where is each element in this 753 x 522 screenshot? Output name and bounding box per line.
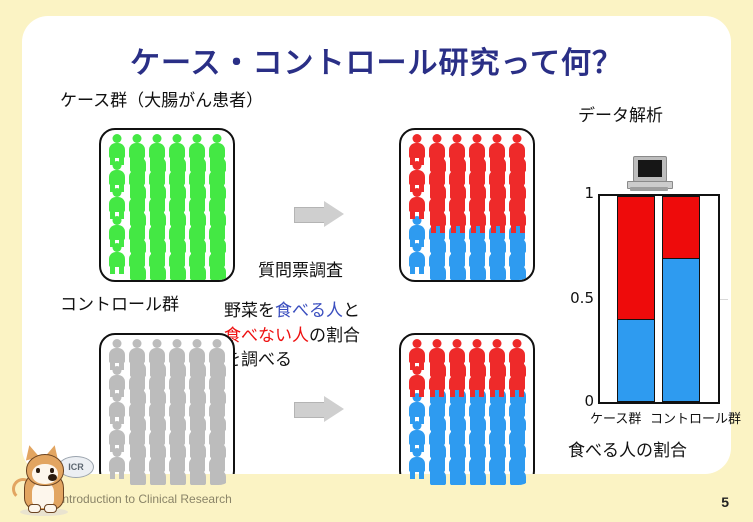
person-icon bbox=[487, 134, 507, 164]
person-icon bbox=[147, 134, 167, 164]
person-icon bbox=[187, 339, 207, 369]
people-box-case-after bbox=[399, 128, 535, 282]
bar-control-group bbox=[662, 196, 700, 402]
chart-y-axis: 1 0.5 0 bbox=[560, 194, 594, 404]
question-noteat-people: 食べない人 bbox=[224, 326, 309, 346]
person-icon bbox=[187, 134, 207, 164]
people-box-case-before bbox=[99, 128, 235, 282]
label-case-group: ケース群（大腸がん患者） bbox=[60, 86, 263, 111]
page-title: ケース・コントロール研究って何？ bbox=[22, 38, 731, 82]
person-icon bbox=[427, 339, 447, 369]
person-icon bbox=[507, 134, 527, 164]
people-row bbox=[101, 134, 233, 160]
person-icon bbox=[107, 134, 127, 164]
label-data-analysis: データ解析 bbox=[578, 101, 663, 126]
label-control-group: コントロール群 bbox=[60, 290, 179, 315]
person-icon bbox=[127, 339, 147, 369]
person-icon bbox=[407, 134, 427, 164]
y-tick-0-5: 0.5 bbox=[570, 289, 594, 307]
person-icon bbox=[487, 339, 507, 369]
bar-segment-eat bbox=[663, 258, 699, 401]
people-box-control-before bbox=[99, 333, 235, 487]
person-icon bbox=[147, 339, 167, 369]
person-icon bbox=[407, 339, 427, 369]
label-survey: 質問票調査 bbox=[258, 256, 343, 281]
right-arrow-icon-bottom bbox=[294, 396, 344, 422]
people-row bbox=[401, 134, 533, 160]
computer-icon bbox=[627, 156, 671, 192]
person-icon bbox=[507, 339, 527, 369]
person-icon bbox=[107, 339, 127, 369]
bar-segment-noteat bbox=[663, 197, 699, 258]
label-chart-caption: 食べる人の割合 bbox=[568, 436, 687, 461]
shiba-dog-mascot-icon: ICR bbox=[8, 438, 94, 518]
person-icon bbox=[467, 339, 487, 369]
person-icon bbox=[207, 134, 227, 164]
x-tick-case-group: ケース群 bbox=[590, 408, 641, 427]
bar-case-group bbox=[617, 196, 655, 402]
bar-segment-noteat bbox=[618, 197, 654, 319]
person-icon bbox=[467, 134, 487, 164]
page-number: 5 bbox=[721, 494, 729, 510]
question-text-block: 野菜を食べる人と 食べない人の割合 を調べる bbox=[224, 299, 384, 373]
right-arrow-icon-top bbox=[294, 201, 344, 227]
chart-plot-area bbox=[598, 194, 720, 404]
question-line2-suffix: の割合 bbox=[309, 326, 360, 346]
people-box-control-after bbox=[399, 333, 535, 487]
x-tick-control-group: コントロール群 bbox=[650, 408, 741, 427]
person-icon bbox=[207, 339, 227, 369]
people-row bbox=[401, 339, 533, 365]
question-line1-suffix: と bbox=[343, 301, 360, 321]
question-eat-people: 食べる人 bbox=[275, 301, 343, 321]
people-row bbox=[101, 339, 233, 365]
question-line1-prefix: 野菜を bbox=[224, 301, 275, 321]
person-icon bbox=[447, 134, 467, 164]
stacked-bar-chart: 1 0.5 0 ケース群 コントロール群 bbox=[560, 194, 740, 422]
person-icon bbox=[427, 134, 447, 164]
person-icon bbox=[127, 134, 147, 164]
person-icon bbox=[447, 339, 467, 369]
slide-content-card: ケース・コントロール研究って何？ ケース群（大腸がん患者） コントロール群 質問… bbox=[22, 16, 731, 474]
bar-segment-eat bbox=[618, 319, 654, 401]
person-icon bbox=[167, 134, 187, 164]
y-tick-1: 1 bbox=[584, 184, 594, 202]
person-icon bbox=[167, 339, 187, 369]
